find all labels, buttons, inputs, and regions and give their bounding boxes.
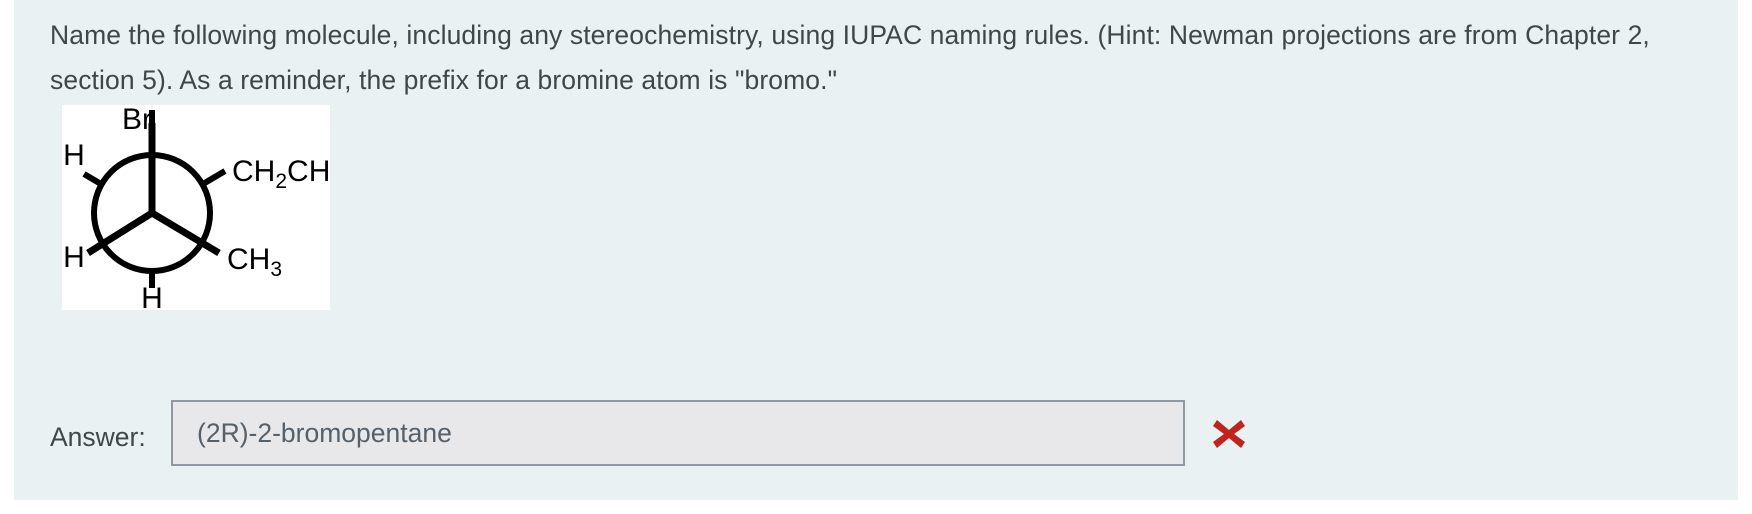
incorrect-x-icon bbox=[1209, 414, 1249, 454]
back-bond-upper-left bbox=[84, 174, 101, 184]
back-bond-upper-right bbox=[203, 171, 225, 184]
methyl-ch-text: CH bbox=[227, 243, 270, 276]
molecule-figure: Br H CH2CH3 H CH3 H bbox=[62, 105, 330, 310]
label-methyl-group: CH3 bbox=[227, 243, 282, 281]
label-hydrogen-upper-left: H bbox=[63, 139, 85, 172]
label-bromine: Br bbox=[122, 105, 152, 136]
ethyl-subscript-2: 2 bbox=[275, 170, 287, 193]
label-ethyl-group: CH2CH3 bbox=[232, 155, 330, 193]
page-root: Name the following molecule, including a… bbox=[0, 0, 1752, 514]
ethyl-ch-text: CH bbox=[232, 155, 275, 188]
answer-input[interactable] bbox=[171, 400, 1185, 466]
label-hydrogen-bottom: H bbox=[141, 282, 163, 310]
ethyl-ch2-text: CH bbox=[287, 155, 330, 188]
label-hydrogen-lower-left: H bbox=[63, 241, 85, 274]
answer-label: Answer: bbox=[50, 422, 146, 453]
question-panel: Name the following molecule, including a… bbox=[14, 0, 1738, 500]
methyl-subscript-3: 3 bbox=[270, 258, 282, 281]
question-prompt: Name the following molecule, including a… bbox=[50, 13, 1690, 103]
newman-projection-diagram: Br H CH2CH3 H CH3 H bbox=[62, 105, 330, 310]
